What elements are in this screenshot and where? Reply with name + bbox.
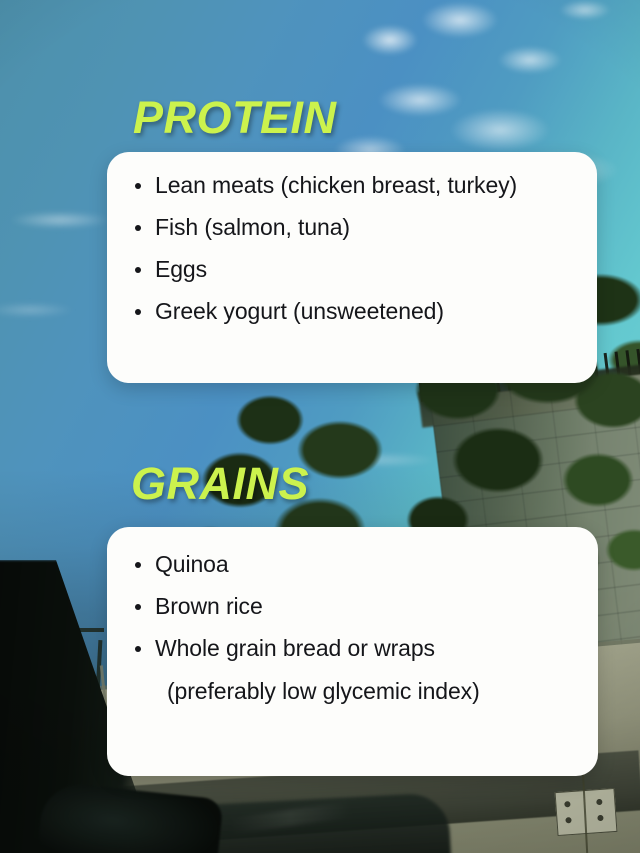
list-item: Greek yogurt (unsweetened) [133,300,583,323]
list-item-label: Brown rice [155,593,263,619]
bullet-icon [135,562,141,568]
list-item-label: Greek yogurt (unsweetened) [155,298,444,324]
list-item-label: Quinoa [155,551,229,577]
list-item: Lean meats (chicken breast, turkey) [133,174,583,197]
list-item-label: Eggs [155,256,207,282]
list-item-label: Fish (salmon, tuna) [155,214,350,240]
bolt-icon [597,815,603,821]
bolt-icon [565,817,571,823]
list-item: Quinoa [133,553,584,576]
list-item: Eggs [133,258,583,281]
section-heading-protein: PROTEIN [133,92,337,144]
bullet-icon [135,646,141,652]
card-grains: Quinoa Brown rice Whole grain bread or w… [107,527,598,776]
bolt-icon [596,799,602,805]
bullet-icon [135,183,141,189]
protein-list: Lean meats (chicken breast, turkey) Fish… [133,174,583,323]
grains-list: Quinoa Brown rice Whole grain bread or w… [133,553,584,703]
list-item: Fish (salmon, tuna) [133,216,583,239]
poster-canvas: PROTEIN Lean meats (chicken breast, turk… [0,0,640,853]
bullet-icon [135,267,141,273]
list-item: Whole grain bread or wraps (preferably l… [133,637,584,703]
bullet-icon [135,604,141,610]
list-item-label: Whole grain bread or wraps [155,635,435,661]
bullet-icon [135,309,141,315]
section-heading-grains: GRAINS [131,458,309,510]
bolt-icon [564,801,570,807]
card-protein: Lean meats (chicken breast, turkey) Fish… [107,152,597,383]
bullet-icon [135,225,141,231]
list-item: Brown rice [133,595,584,618]
list-item-label: Lean meats (chicken breast, turkey) [155,172,517,198]
list-item-label-continued: (preferably low glycemic index) [167,680,584,703]
